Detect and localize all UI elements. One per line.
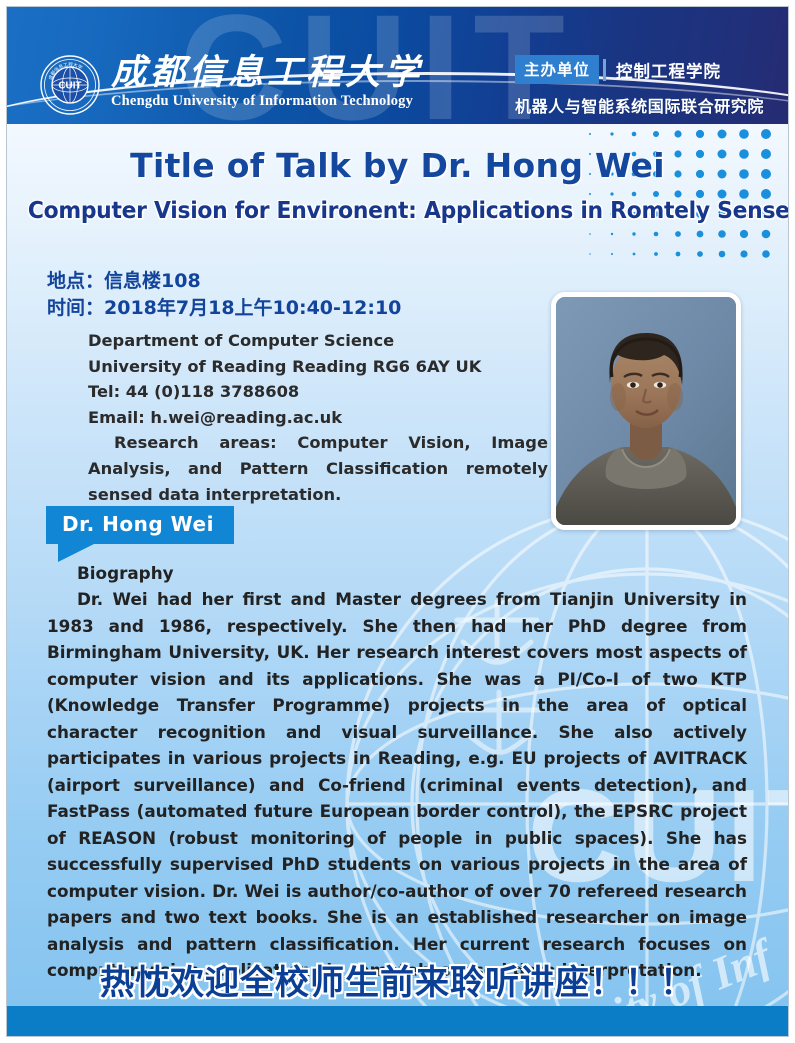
biography-paragraph-wrap: Dr. Wei had her first and Master degrees… <box>47 586 747 984</box>
svg-text:CUIT: CUIT <box>58 81 81 92</box>
contact-research-areas: Research areas: Computer Vision, Image A… <box>88 433 548 504</box>
talk-title: Title of Talk by Dr. Hong Wei <box>0 146 795 185</box>
contact-email: Email: h.wei@reading.ac.uk <box>88 405 548 431</box>
contact-research-areas-wrap: Research areas: Computer Vision, Image A… <box>88 430 548 508</box>
biography-heading: Biography <box>77 560 747 586</box>
speaker-name-label: Dr. Hong Wei <box>46 506 234 544</box>
university-name-block: 成都信息工程大学 Chengdu University of Informati… <box>111 54 423 110</box>
talk-subtitle: Computer Vision for Environent: Applicat… <box>28 196 767 224</box>
event-time: 时间：2018年7月18上午10:40-12:10 <box>47 295 401 322</box>
contact-affiliation: University of Reading Reading RG6 6AY UK <box>88 354 548 380</box>
organiser-tag: 主办单位 <box>515 55 599 84</box>
biography-paragraph: Dr. Wei had her first and Master degrees… <box>47 589 747 980</box>
contact-tel: Tel: 44 (0)118 3788608 <box>88 379 548 405</box>
speaker-portrait-image <box>556 297 736 525</box>
welcome-message: 热忱欢迎全校师生前来聆听讲座！！！ <box>0 955 795 1004</box>
organiser-row-primary: 主办单位 控制工程学院 <box>515 55 764 84</box>
event-meta: 地点：信息楼108 时间：2018年7月18上午10:40-12:10 <box>47 268 401 322</box>
biography-section: Biography Dr. Wei had her first and Mast… <box>47 560 747 984</box>
poster-header: CUIT CUIT 成都信息工程大学 成都信息工程大学 Chengdu Univ… <box>7 7 788 124</box>
event-venue: 地点：信息楼108 <box>47 268 401 295</box>
organiser-department: 控制工程学院 <box>616 58 721 82</box>
contact-department: Department of Computer Science <box>88 328 548 354</box>
seminar-poster: CUIT CUIT 成都信息工程大学 成都信息工程大学 Chengdu Univ… <box>0 0 795 1043</box>
organiser-block: 主办单位 控制工程学院 机器人与智能系统国际联合研究院 <box>515 55 764 117</box>
speaker-contact-block: Department of Computer Science Universit… <box>88 328 548 508</box>
badge-tail-pointer <box>58 544 94 562</box>
organiser-divider <box>603 59 606 81</box>
speaker-name-badge: Dr. Hong Wei <box>46 506 234 544</box>
speaker-photo <box>551 292 741 530</box>
university-name-cn: 成都信息工程大学 <box>111 54 423 92</box>
cuit-crest-icon: CUIT 成都信息工程大学 <box>40 55 100 115</box>
footer-bar <box>7 1006 788 1036</box>
university-name-en: Chengdu University of Information Techno… <box>111 93 423 110</box>
organiser-institute: 机器人与智能系统国际联合研究院 <box>515 93 764 117</box>
halftone-dots-decoration <box>578 124 788 264</box>
